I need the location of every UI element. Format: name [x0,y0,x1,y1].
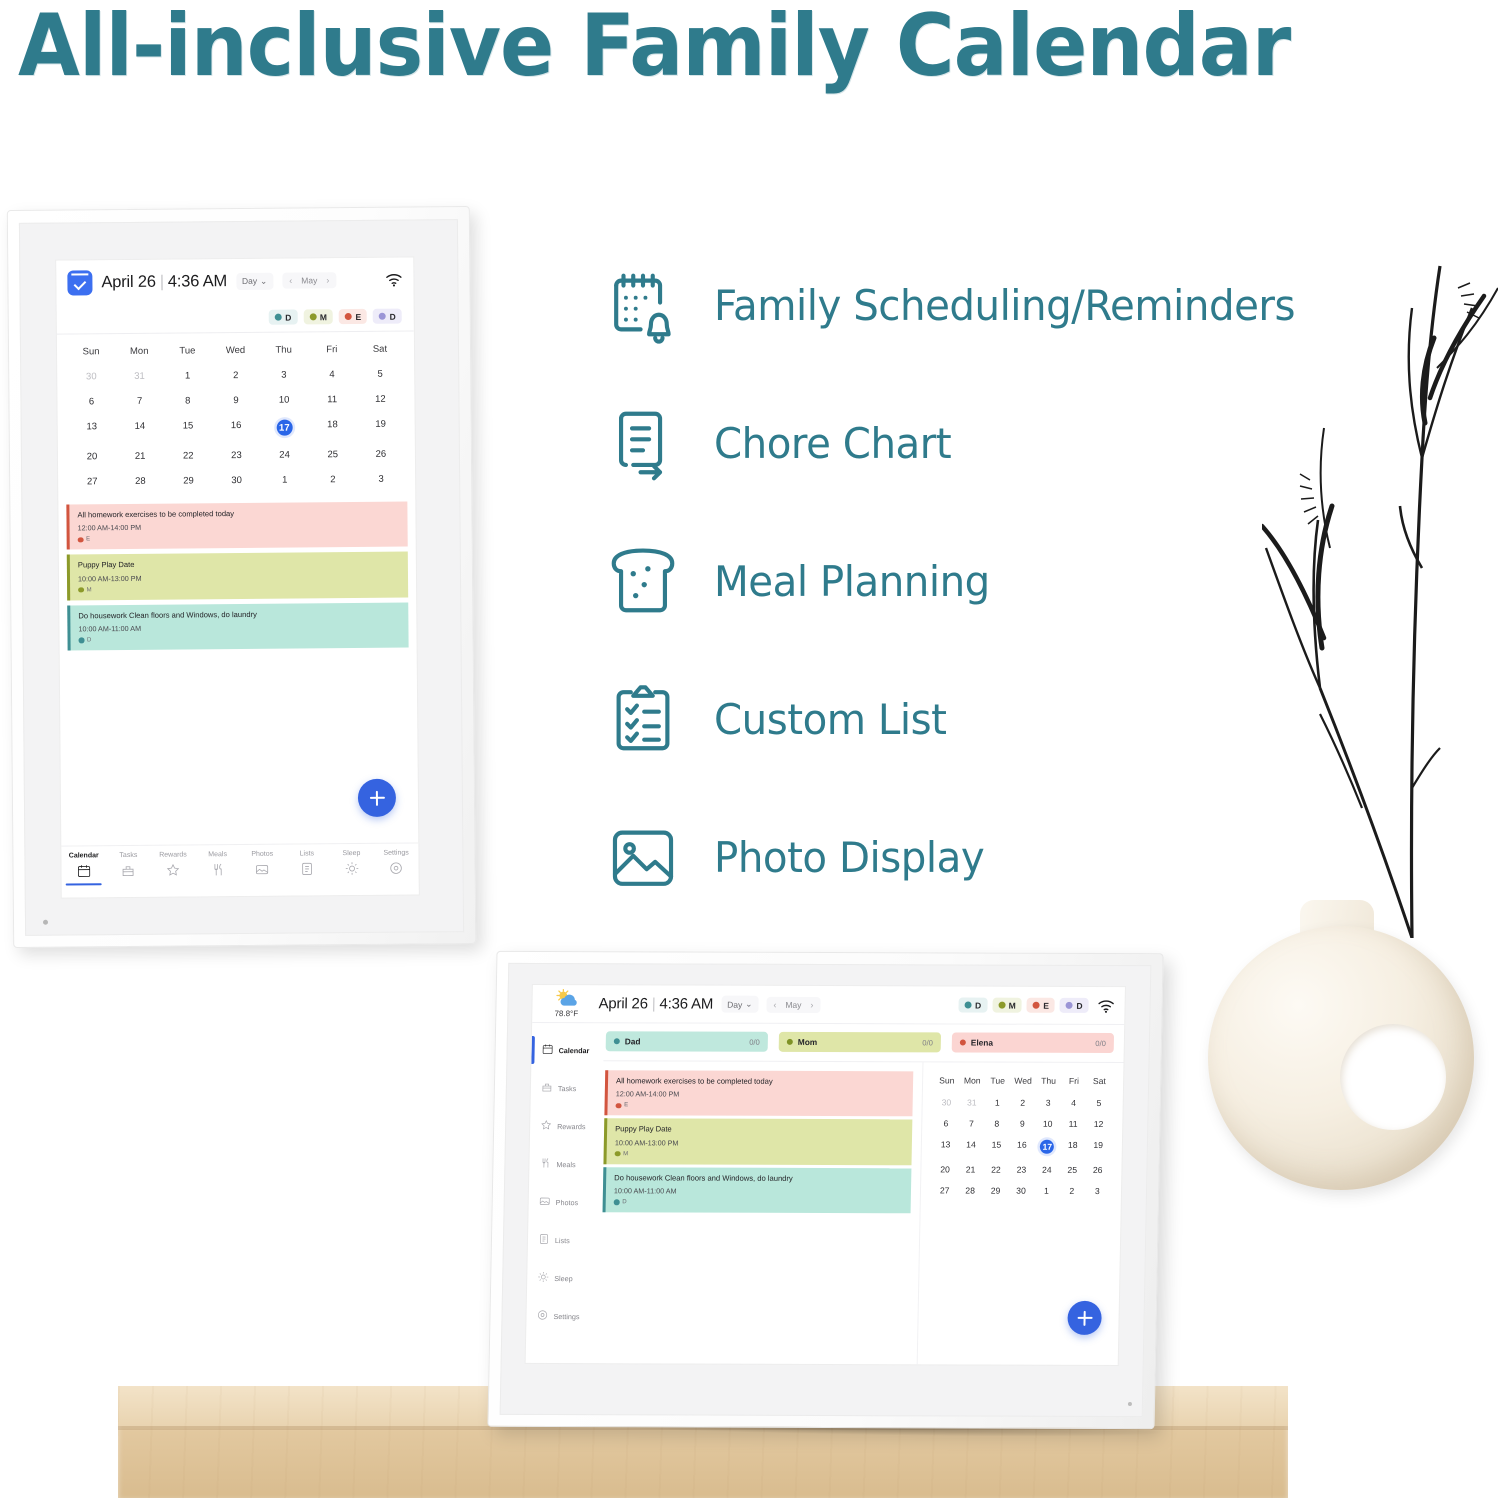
event-card[interactable]: All homework exercises to be completed t… [66,502,407,550]
member-chip[interactable]: E [1027,998,1055,1013]
current-date: April 26 [101,272,156,290]
event-card[interactable]: All homework exercises to be completed t… [604,1070,913,1116]
feature-list: Family Scheduling/Reminders Chore Chart … [600,236,1360,926]
landscape-top-bar: 78.8°F April 26|4:36 AM Day ⌄ ‹ May › D [532,985,1125,1025]
calendar-app-icon [67,270,92,295]
day-cell[interactable]: 5 [356,362,404,387]
day-cell[interactable]: 3 [260,362,308,387]
portrait-calendar-device: April 26|4:36 AM Day ⌄ ‹ May › D [7,206,476,948]
event-owner-initial: D [622,1199,626,1205]
member-task-count: 0/0 [749,1037,760,1046]
event-card[interactable]: Puppy Play Date 10:00 AM-13:00 PM M [603,1118,912,1164]
chevron-down-icon: ⌄ [745,999,752,1010]
sun-icon [344,861,359,876]
sidebar-item-label: Photos [556,1198,579,1207]
member-chip[interactable]: M [992,998,1022,1013]
day-cell[interactable]: 14 [958,1133,984,1158]
day-cell[interactable]: 12 [356,387,404,412]
day-cell[interactable]: 28 [957,1179,983,1200]
weather-widget[interactable]: 78.8°F [542,989,591,1018]
date-time-separator: | [652,995,656,1012]
member-initial: M [320,312,327,322]
sidebar-item-sleep[interactable]: Sleep [527,1259,600,1297]
photo-image-icon [600,814,686,900]
day-cell[interactable]: 4 [1061,1092,1087,1113]
event-owner: E [78,534,400,543]
event-title: Do housework Clean floors and Windows, d… [614,1173,903,1184]
day-cell[interactable]: 9 [1009,1113,1035,1134]
event-owner: D [79,634,401,643]
tab-label: Lists [300,850,314,857]
current-month-label: May [785,999,801,1009]
sidebar-item-settings[interactable]: Settings [526,1297,599,1335]
member-color-dot [787,1039,793,1045]
event-owner-dot [615,1151,621,1157]
event-time: 10:00 AM-11:00 AM [78,621,400,633]
event-title: Puppy Play Date [78,558,400,571]
tab-label: Sleep [342,850,360,857]
event-title: Do housework Clean floors and Windows, d… [78,608,400,621]
weekday-header-row: Sun Mon Tue Wed Thu Fri Sat [934,1072,1112,1092]
day-cell[interactable]: 6 [933,1112,959,1133]
feature-item-scheduling: Family Scheduling/Reminders [600,236,1360,374]
day-cell[interactable]: 7 [959,1112,985,1133]
landscape-content-columns: All homework exercises to be completed t… [598,1061,1124,1365]
day-cell[interactable]: 21 [116,444,164,469]
day-cell[interactable]: 9 [212,388,260,413]
member-task-count: 0/0 [922,1038,933,1047]
list-icon [538,1233,550,1247]
weekday-label: Fri [308,339,356,362]
member-column-elena[interactable]: Elena 0/0 [952,1032,1114,1053]
day-cell[interactable]: 18 [308,412,356,442]
bread-slice-icon [600,538,686,624]
current-time: 4:36 AM [168,272,227,291]
portrait-event-list: All homework exercises to be completed t… [58,496,416,650]
date-time-display: April 26|4:36 AM [598,995,713,1012]
sidebar-item-tasks[interactable]: Tasks [531,1069,604,1107]
weather-temperature: 78.8°F [554,1009,578,1018]
weekday-label: Sat [1086,1073,1112,1092]
week-row: 20 21 22 23 24 25 26 [68,442,405,470]
day-cell[interactable]: 13 [68,414,116,444]
star-icon [540,1119,552,1133]
month-navigator[interactable]: ‹ May › [282,272,336,288]
tab-settings[interactable]: Settings [374,849,419,875]
date-time-separator: | [160,272,164,290]
week-row: 13 14 15 16 17 18 19 [68,412,405,445]
date-time-display: April 26|4:36 AM [101,272,227,292]
document-arrow-icon [600,400,686,486]
day-cell[interactable]: 2 [309,467,357,492]
month-navigator[interactable]: ‹ May › [766,996,820,1012]
day-cell[interactable]: 12 [1086,1113,1112,1134]
event-time: 10:00 AM-13:00 PM [78,571,400,583]
event-owner-dot [614,1199,620,1205]
day-cell[interactable]: 30 [934,1091,960,1112]
sidebar-item-label: Rewards [557,1122,586,1131]
day-cell[interactable]: 10 [1035,1113,1061,1134]
prev-month-icon[interactable]: ‹ [289,276,292,286]
day-cell[interactable]: 30 [67,364,115,389]
event-owner-dot [78,587,84,593]
photo-icon [255,862,270,877]
event-card[interactable]: Puppy Play Date 10:00 AM-13:00 PM M [67,552,408,600]
day-cell[interactable]: 22 [164,443,212,468]
member-chip[interactable]: D [1060,998,1089,1013]
tab-label: Meals [208,851,227,858]
day-cell[interactable]: 25 [1059,1159,1085,1180]
tab-tasks[interactable]: Tasks [106,852,151,878]
sidebar-item-label: Settings [553,1312,579,1321]
member-color-dot [998,1002,1005,1009]
day-cell[interactable]: 24 [1034,1159,1060,1180]
week-row: 27 28 29 30 1 2 3 [932,1179,1110,1201]
tab-label: Calendar [69,852,99,859]
sidebar-item-label: Tasks [558,1084,577,1093]
day-cell[interactable]: 23 [212,443,260,468]
portrait-month-grid: Sun Mon Tue Wed Thu Fri Sat 30 31 1 2 3 … [57,331,415,499]
day-cell[interactable]: 2 [1059,1180,1085,1201]
event-owner-dot [78,537,84,543]
day-cell[interactable]: 11 [1060,1113,1086,1134]
member-initial: D [1076,1000,1082,1010]
sidebar-item-lists[interactable]: Lists [528,1221,601,1259]
day-cell[interactable]: 1 [1034,1180,1060,1201]
day-cell[interactable]: 2 [1010,1092,1036,1113]
event-title: All homework exercises to be completed t… [77,508,399,521]
weekday-label: Fri [1061,1073,1087,1092]
day-cell[interactable]: 13 [933,1133,959,1158]
tab-calendar[interactable]: Calendar [61,852,106,878]
day-cell[interactable]: 5 [1086,1092,1112,1113]
tab-label: Rewards [159,851,187,858]
feature-item-chore-chart: Chore Chart [600,374,1360,512]
event-card[interactable]: Do housework Clean floors and Windows, d… [67,602,408,650]
day-cell[interactable]: 6 [67,389,115,414]
prev-month-icon[interactable]: ‹ [773,999,776,1009]
event-owner-initial: E [624,1103,628,1109]
member-initial: E [1043,1000,1049,1010]
day-cell-today[interactable]: 17 [260,412,308,442]
day-cell[interactable]: 22 [983,1159,1009,1180]
day-cell[interactable]: 1 [163,363,211,388]
tab-label: Tasks [119,852,137,859]
feature-item-custom-list: Custom List [600,650,1360,788]
feature-label: Chore Chart [714,419,951,468]
weekday-label: Sun [934,1072,960,1091]
view-selector-dropdown[interactable]: Day ⌄ [236,272,273,289]
member-initial: E [355,311,361,321]
day-cell[interactable]: 1 [984,1092,1010,1113]
day-cell[interactable]: 20 [68,444,116,469]
week-row: 27 28 29 30 1 2 3 [68,467,405,495]
weekday-label: Thu [259,339,307,362]
day-cell[interactable]: 27 [68,469,116,494]
sun-icon [537,1271,549,1285]
weekday-label: Wed [1010,1073,1036,1092]
event-title: All homework exercises to be completed t… [616,1076,905,1087]
current-time: 4:36 AM [659,995,713,1012]
event-time: 12:00 AM-14:00 PM [78,521,400,533]
member-color-dot [275,314,282,321]
landscape-event-list: All homework exercises to be completed t… [598,1061,924,1364]
landscape-main-area: Dad 0/0 Mom 0/0 Elena 0/0 [598,1023,1125,1365]
calendar-icon [76,863,91,878]
ceramic-donut-vase [1208,900,1474,1190]
cutlery-icon [539,1157,551,1171]
member-color-dot [379,313,386,320]
member-name: Mom [798,1037,818,1047]
member-color-dot [960,1039,966,1045]
day-cell[interactable]: 30 [212,468,260,493]
wifi-icon [1097,998,1114,1012]
day-cell[interactable]: 23 [1009,1159,1035,1180]
weekday-label: Mon [959,1072,985,1091]
sidebar-item-label: Meals [556,1160,575,1169]
week-row: 13 14 15 16 17 18 19 [933,1133,1112,1159]
feature-label: Custom List [714,695,947,744]
current-month-label: May [301,275,317,285]
member-chip[interactable]: D [958,997,987,1012]
next-month-icon[interactable]: › [810,999,813,1009]
star-icon [166,863,181,878]
portrait-member-chips: D M E D [57,301,414,334]
member-color-dot [345,313,352,320]
wifi-icon [385,273,402,287]
day-cell[interactable]: 18 [1060,1134,1086,1159]
sun-cloud-icon [554,989,579,1008]
tab-photos[interactable]: Photos [240,851,285,877]
member-task-count: 0/0 [1095,1038,1106,1047]
sidebar-item-label: Sleep [554,1274,573,1283]
chevron-down-icon: ⌄ [260,275,267,286]
event-owner: E [616,1103,905,1110]
event-owner: M [615,1151,904,1158]
weekday-header-row: Sun Mon Tue Wed Thu Fri Sat [67,339,404,365]
event-owner-dot [616,1103,622,1109]
event-time: 12:00 AM-14:00 PM [616,1090,905,1100]
member-color-dot [309,313,316,320]
weekday-label: Sat [356,339,404,362]
weekday-label: Mon [115,341,163,364]
day-cell[interactable]: 7 [115,389,163,414]
day-cell[interactable]: 16 [1009,1134,1035,1159]
day-cell[interactable]: 26 [357,442,405,467]
event-owner: D [614,1199,903,1206]
list-icon [299,861,314,876]
day-cell[interactable]: 15 [983,1134,1009,1159]
member-color-dot [964,1002,971,1009]
member-initial: D [390,311,396,321]
day-cell[interactable]: 29 [164,468,212,493]
day-cell[interactable]: 10 [260,387,308,412]
week-row: 20 21 22 23 24 25 26 [932,1158,1110,1180]
day-cell[interactable]: 2 [212,363,260,388]
tab-label: Settings [383,850,408,857]
day-cell[interactable]: 20 [932,1158,958,1179]
member-chip[interactable]: D [373,309,402,324]
event-owner-initial: M [623,1151,628,1157]
member-initial: M [1009,1000,1016,1010]
day-cell[interactable]: 3 [1035,1092,1061,1113]
photo-icon [539,1195,551,1209]
portrait-screen: April 26|4:36 AM Day ⌄ ‹ May › D [56,257,419,897]
sidebar-item-label: Calendar [559,1046,590,1055]
day-cell-today[interactable]: 17 [1034,1134,1060,1159]
week-row: 6 7 8 9 10 11 12 [933,1112,1111,1134]
event-card[interactable]: Do housework Clean floors and Windows, d… [603,1167,912,1213]
member-initial: D [975,1000,981,1010]
landscape-month-grid: Sun Mon Tue Wed Thu Fri Sat 30 31 1 [918,1062,1124,1365]
sidebar-item-label: Lists [555,1236,570,1245]
add-event-button[interactable] [358,779,396,817]
page-title: All-inclusive Family Calendar [18,0,1339,96]
landscape-calendar-device: 78.8°F April 26|4:36 AM Day ⌄ ‹ May › D [487,951,1163,1429]
feature-item-meal-planning: Meal Planning [600,512,1360,650]
today-number: 17 [276,420,292,436]
day-cell[interactable]: 19 [1085,1134,1111,1159]
landscape-sidebar: Calendar Tasks Rewards Meals Photos [526,1023,605,1363]
feature-label: Family Scheduling/Reminders [714,281,1295,330]
tab-lists[interactable]: Lists [285,850,330,876]
member-color-dot [1066,1002,1073,1009]
day-cell[interactable]: 11 [308,387,356,412]
day-cell[interactable]: 24 [260,442,308,467]
feature-label: Meal Planning [714,557,990,606]
member-chip[interactable]: D [269,310,298,325]
day-cell[interactable]: 28 [116,469,164,494]
tab-meals[interactable]: Meals [195,851,240,877]
weekday-label: Wed [211,340,259,363]
feature-label: Photo Display [714,833,984,882]
member-column-dad[interactable]: Dad 0/0 [606,1031,768,1052]
day-cell[interactable]: 26 [1085,1159,1111,1180]
view-selector-label: Day [242,276,257,286]
landscape-member-chips: D M E D [958,997,1124,1013]
event-time: 10:00 AM-13:00 PM [615,1138,904,1148]
view-selector-label: Day [727,999,742,1009]
day-cell[interactable]: 29 [983,1180,1009,1201]
event-title: Puppy Play Date [615,1125,904,1136]
portrait-device-indicator-light [43,920,48,925]
today-number: 17 [1040,1139,1054,1153]
vase-center-hole [1340,1024,1446,1130]
gear-icon [389,861,404,876]
sidebar-item-meals[interactable]: Meals [529,1145,602,1183]
view-selector-dropdown[interactable]: Day ⌄ [721,996,759,1013]
calendar-bell-icon [600,262,686,348]
tab-rewards[interactable]: Rewards [151,851,196,877]
day-cell[interactable]: 3 [1084,1180,1110,1201]
day-cell[interactable]: 4 [308,362,356,387]
member-color-dot [614,1038,620,1044]
member-color-dot [1033,1002,1040,1009]
day-cell[interactable]: 19 [356,412,404,442]
weekday-label: Thu [1036,1073,1062,1092]
day-cell[interactable]: 27 [932,1179,958,1200]
member-chip[interactable]: M [303,309,333,324]
weekday-label: Tue [985,1073,1011,1092]
gear-icon [536,1309,548,1323]
member-chip[interactable]: E [339,309,367,324]
day-cell[interactable]: 30 [1008,1180,1034,1201]
member-columns: Dad 0/0 Mom 0/0 Elena 0/0 [603,1023,1124,1063]
event-owner: M [78,584,400,593]
dried-grass-stems [1262,248,1498,938]
member-name: Elena [971,1038,993,1048]
cutlery-icon [210,862,225,877]
calendar-icon [542,1043,554,1057]
add-event-button[interactable] [1067,1301,1102,1335]
weekday-label: Tue [163,340,211,363]
sidebar-item-photos[interactable]: Photos [528,1183,601,1221]
weekday-label: Sun [67,341,115,364]
day-cell[interactable]: 21 [958,1158,984,1179]
event-owner-dot [79,637,85,643]
portrait-bottom-nav: Calendar Tasks Rewards Meals Photos List… [61,842,418,897]
day-cell[interactable]: 25 [309,442,357,467]
tasks-icon [121,863,136,878]
event-owner-initial: D [87,637,91,643]
day-cell[interactable]: 31 [115,364,163,389]
day-cell[interactable]: 31 [959,1091,985,1112]
tab-sleep[interactable]: Sleep [329,850,374,876]
week-row: 30 31 1 2 3 4 5 [67,362,404,390]
sidebar-item-rewards[interactable]: Rewards [530,1107,603,1145]
day-cell[interactable]: 1 [261,467,309,492]
day-cell[interactable]: 3 [357,467,405,492]
member-column-mom[interactable]: Mom 0/0 [779,1032,941,1053]
member-initial: D [285,312,291,322]
sidebar-item-calendar[interactable]: Calendar [531,1031,604,1069]
week-row: 6 7 8 9 10 11 12 [67,387,404,415]
landscape-screen: 78.8°F April 26|4:36 AM Day ⌄ ‹ May › D [526,985,1125,1365]
day-cell[interactable]: 8 [164,388,212,413]
current-date: April 26 [598,995,648,1012]
week-row: 30 31 1 2 3 4 5 [934,1091,1112,1113]
tasks-icon [541,1081,553,1095]
day-cell[interactable]: 16 [212,413,260,443]
member-name: Dad [625,1036,641,1046]
event-owner-initial: M [87,587,92,593]
day-cell[interactable]: 15 [164,413,212,443]
portrait-app-header: April 26|4:36 AM Day ⌄ ‹ May › [56,257,413,304]
day-cell[interactable]: 8 [984,1113,1010,1134]
clipboard-check-icon [600,676,686,762]
day-cell[interactable]: 14 [116,414,164,444]
landscape-body: Calendar Tasks Rewards Meals Photos [526,1023,1125,1365]
tab-label: Photos [251,851,273,858]
event-owner-initial: E [86,537,90,543]
event-time: 10:00 AM-11:00 AM [614,1186,903,1196]
next-month-icon[interactable]: › [326,275,329,285]
